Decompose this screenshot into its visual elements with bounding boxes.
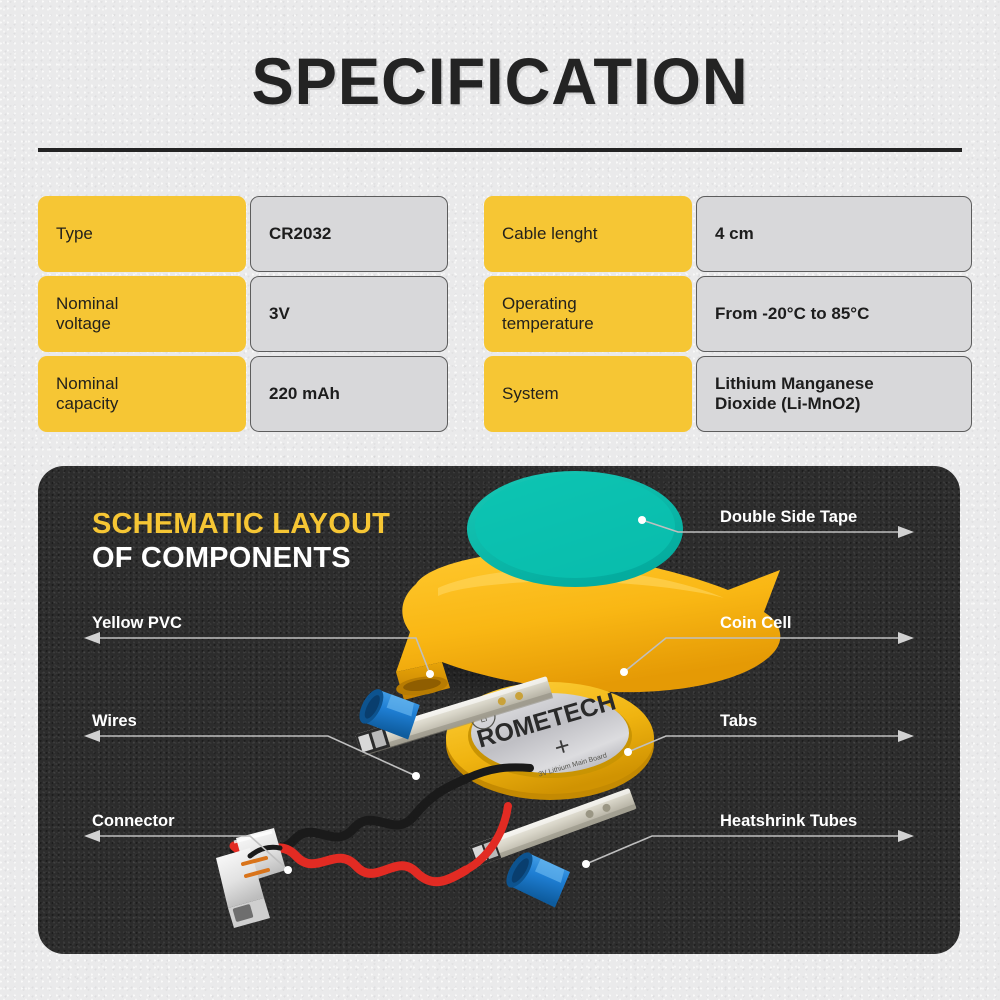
specification-table: Type CR2032 Cable lenght 4 cm Nominalvol… [38,196,962,432]
spec-label-nominal-capacity: Nominalcapacity [38,356,246,432]
spec-gap [448,276,484,352]
callout-label-double-side-tape: Double Side Tape [720,508,857,527]
spec-gap [448,196,484,272]
callout-label-heatshrink-tubes: Heatshrink Tubes [720,812,857,831]
spec-label-type: Type [38,196,246,272]
schematic-heading-line1: SCHEMATIC LAYOUT [92,508,390,542]
spec-gap [448,356,484,432]
spec-label-nominal-voltage: Nominalvoltage [38,276,246,352]
schematic-heading-line2: OF COMPONENTS [92,542,390,576]
spec-value-type: CR2032 [250,196,448,272]
spec-value-cable-length: 4 cm [696,196,972,272]
spec-value-system: Lithium ManganeseDioxide (Li-MnO2) [696,356,972,432]
spec-value-nominal-capacity: 220 mAh [250,356,448,432]
schematic-layout-panel: SCHEMATIC LAYOUT OF COMPONENTS [38,466,960,954]
callout-label-tabs: Tabs [720,712,757,731]
spec-label-system: System [484,356,692,432]
spec-value-operating-temperature: From -20°C to 85°C [696,276,972,352]
callout-label-wires: Wires [92,712,137,731]
spec-label-operating-temperature: Operatingtemperature [484,276,692,352]
title-divider [38,148,962,152]
spec-label-cable-length: Cable lenght [484,196,692,272]
page-title: SPECIFICATION [20,48,980,114]
callout-label-coin-cell: Coin Cell [720,614,792,633]
schematic-heading: SCHEMATIC LAYOUT OF COMPONENTS [92,508,390,575]
spec-value-nominal-voltage: 3V [250,276,448,352]
callout-label-connector: Connector [92,812,175,831]
callout-label-yellow-pvc: Yellow PVC [92,614,182,633]
